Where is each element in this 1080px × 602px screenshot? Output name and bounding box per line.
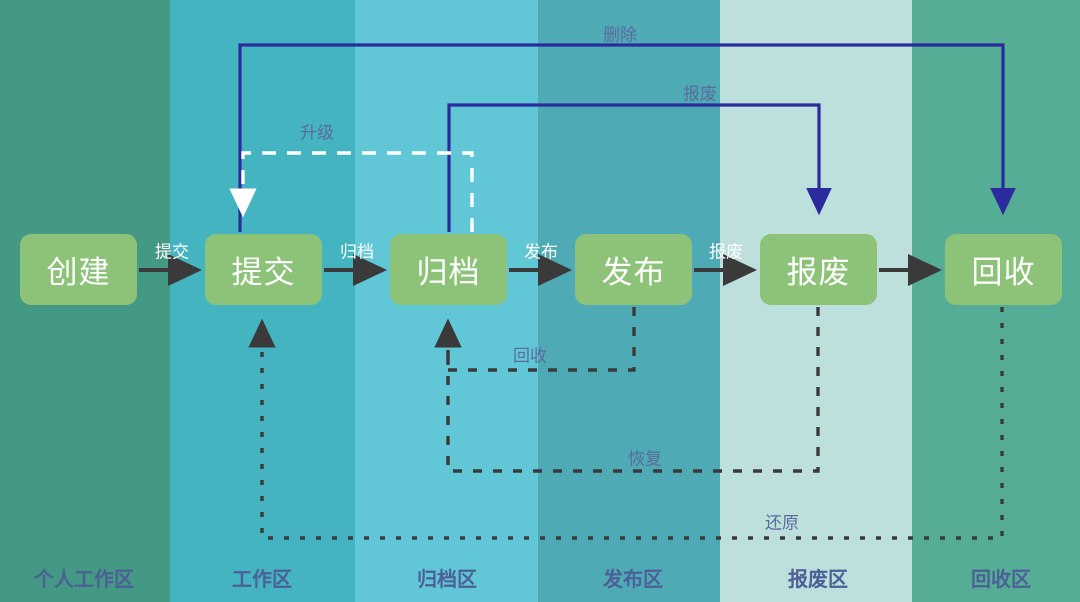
- zone-label-scrap: 报废区: [788, 563, 848, 592]
- zone-label-publish: 发布区: [603, 563, 663, 592]
- zone-label-recycle: 回收区: [971, 563, 1031, 592]
- workflow-diagram: 创建提交归档发布报废回收 提交归档发布报废删除报废升级回收恢复还原 个人工作区工…: [0, 0, 1080, 602]
- zone-label-layer: 个人工作区工作区归档区发布区报废区回收区: [0, 0, 1080, 602]
- zone-label-archive: 归档区: [417, 563, 477, 592]
- zone-label-personal: 个人工作区: [34, 563, 134, 592]
- zone-label-work: 工作区: [232, 563, 292, 592]
